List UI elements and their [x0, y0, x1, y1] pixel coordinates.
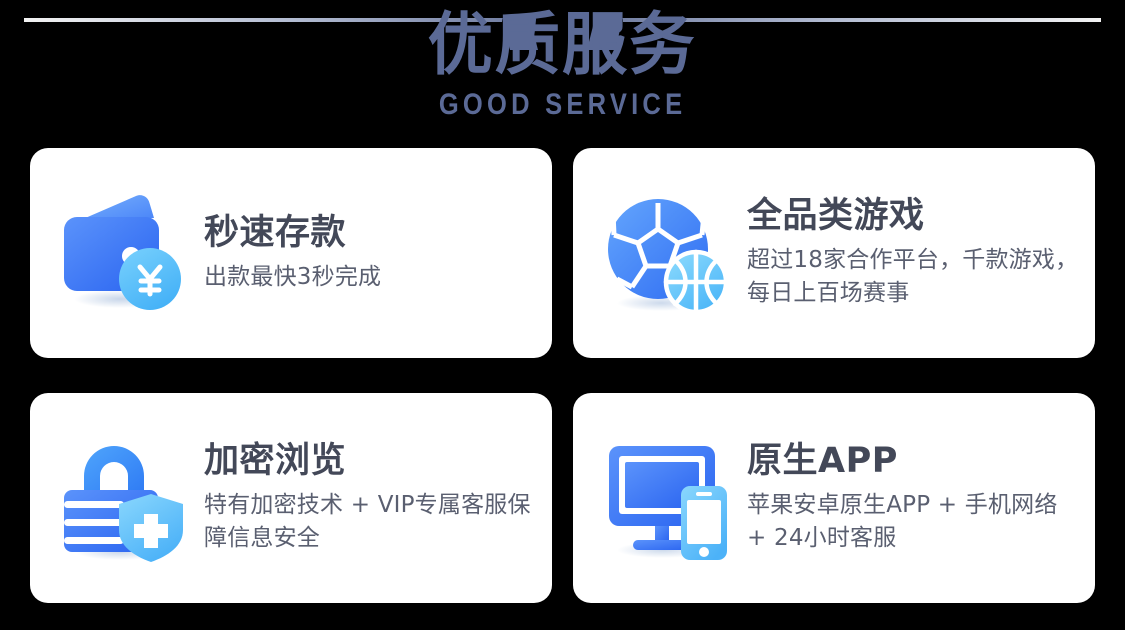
card-texts: 全品类游戏 超过18家合作平台，千款游戏，每日上百场赛事	[747, 196, 1079, 310]
service-card-deposit[interactable]: 秒速存款 出款最快3秒完成	[30, 148, 552, 358]
card-title: 加密浏览	[204, 441, 536, 482]
card-texts: 加密浏览 特有加密技术 + VIP专属客服保障信息安全	[204, 441, 536, 555]
card-description: 超过18家合作平台，千款游戏，每日上百场赛事	[747, 244, 1079, 309]
soccer-basketball-icon	[601, 187, 733, 319]
card-description: 出款最快3秒完成	[204, 261, 536, 294]
card-title: 全品类游戏	[747, 196, 1079, 237]
title-row: 优质服务	[0, 0, 1125, 92]
page-title: 优质服务	[428, 0, 697, 92]
monitor-phone-icon	[601, 432, 733, 564]
good-service-banner: 优质服务 GOOD SERVICE	[0, 0, 1125, 630]
card-description: 特有加密技术 + VIP专属客服保障信息安全	[204, 489, 536, 554]
card-texts: 原生APP 苹果安卓原生APP + 手机网络 + 24小时客服	[747, 441, 1079, 555]
service-card-games[interactable]: 全品类游戏 超过18家合作平台，千款游戏，每日上百场赛事	[573, 148, 1095, 358]
card-title: 秒速存款	[204, 213, 536, 254]
card-description: 苹果安卓原生APP + 手机网络 + 24小时客服	[747, 489, 1079, 554]
service-card-encryption[interactable]: 加密浏览 特有加密技术 + VIP专属客服保障信息安全	[30, 393, 552, 603]
lock-shield-icon	[58, 432, 190, 564]
header: 优质服务 GOOD SERVICE	[0, 0, 1125, 140]
card-title: 原生APP	[747, 441, 1079, 482]
service-card-grid: 秒速存款 出款最快3秒完成	[30, 148, 1095, 603]
service-card-native-app[interactable]: 原生APP 苹果安卓原生APP + 手机网络 + 24小时客服	[573, 393, 1095, 603]
page-subtitle: GOOD SERVICE	[439, 88, 686, 122]
card-texts: 秒速存款 出款最快3秒完成	[204, 213, 536, 294]
wallet-yen-icon	[58, 187, 190, 319]
